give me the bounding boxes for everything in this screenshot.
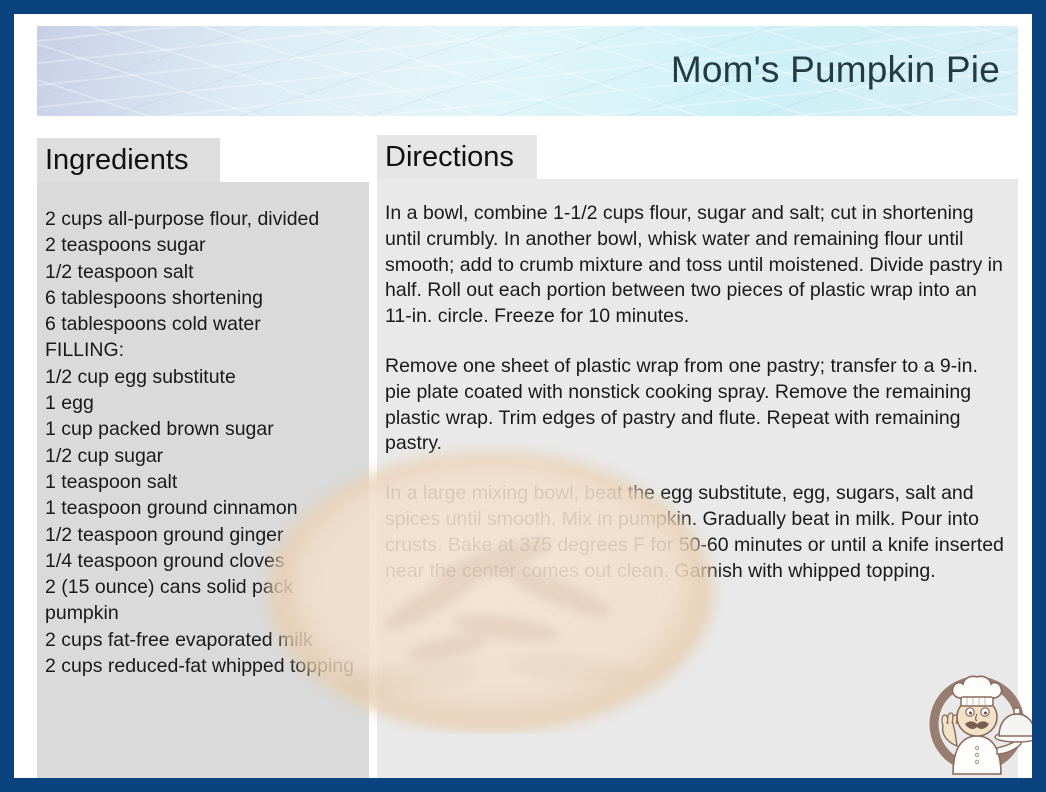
title-banner: Mom's Pumpkin Pie <box>37 26 1018 116</box>
ingredient-item: 1/2 cup egg substitute <box>45 364 359 390</box>
directions-heading-label: Directions <box>385 143 514 172</box>
ingredient-item: 1/4 teaspoon ground cloves <box>45 548 359 574</box>
direction-paragraph: In a large mixing bowl, beat the egg sub… <box>385 481 1004 584</box>
ingredient-item: 1 teaspoon ground cinnamon <box>45 495 359 521</box>
ingredient-item: 2 cups all-purpose flour, divided <box>45 206 359 232</box>
recipe-card-inner: Mom's Pumpkin Pie Ingredients 2 cups all… <box>14 14 1032 778</box>
ingredients-heading-tab: Ingredients <box>37 138 220 182</box>
ingredient-item: 2 teaspoons sugar <box>45 232 359 258</box>
ingredient-item: 1 cup packed brown sugar <box>45 416 359 442</box>
ingredient-item: 6 tablespoons cold water <box>45 311 359 337</box>
ingredients-list: 2 cups all-purpose flour, divided2 teasp… <box>45 206 359 679</box>
directions-heading-tab: Directions <box>377 135 537 179</box>
ingredients-panel: 2 cups all-purpose flour, divided2 teasp… <box>37 182 369 778</box>
ingredient-item: 6 tablespoons shortening <box>45 285 359 311</box>
ingredient-item: 1 egg <box>45 390 359 416</box>
directions-panel: In a bowl, combine 1-1/2 cups flour, sug… <box>377 179 1018 778</box>
direction-paragraph: In a bowl, combine 1-1/2 cups flour, sug… <box>385 201 1004 330</box>
direction-paragraph: Remove one sheet of plastic wrap from on… <box>385 354 1004 457</box>
ingredient-item: 2 (15 ounce) cans solid pack pumpkin <box>45 574 359 627</box>
ingredient-item: FILLING: <box>45 337 359 363</box>
recipe-card-page: Mom's Pumpkin Pie Ingredients 2 cups all… <box>0 0 1046 792</box>
ingredient-item: 2 cups reduced-fat whipped topping <box>45 653 359 679</box>
ingredient-item: 2 cups fat-free evaporated milk <box>45 627 359 653</box>
ingredient-item: 1/2 cup sugar <box>45 443 359 469</box>
ingredient-item: 1/2 teaspoon salt <box>45 259 359 285</box>
ingredient-item: 1 teaspoon salt <box>45 469 359 495</box>
ingredient-item: 1/2 teaspoon ground ginger <box>45 522 359 548</box>
page-title: Mom's Pumpkin Pie <box>671 49 1000 91</box>
ingredients-heading-label: Ingredients <box>45 146 189 175</box>
directions-text: In a bowl, combine 1-1/2 cups flour, sug… <box>385 201 1004 584</box>
